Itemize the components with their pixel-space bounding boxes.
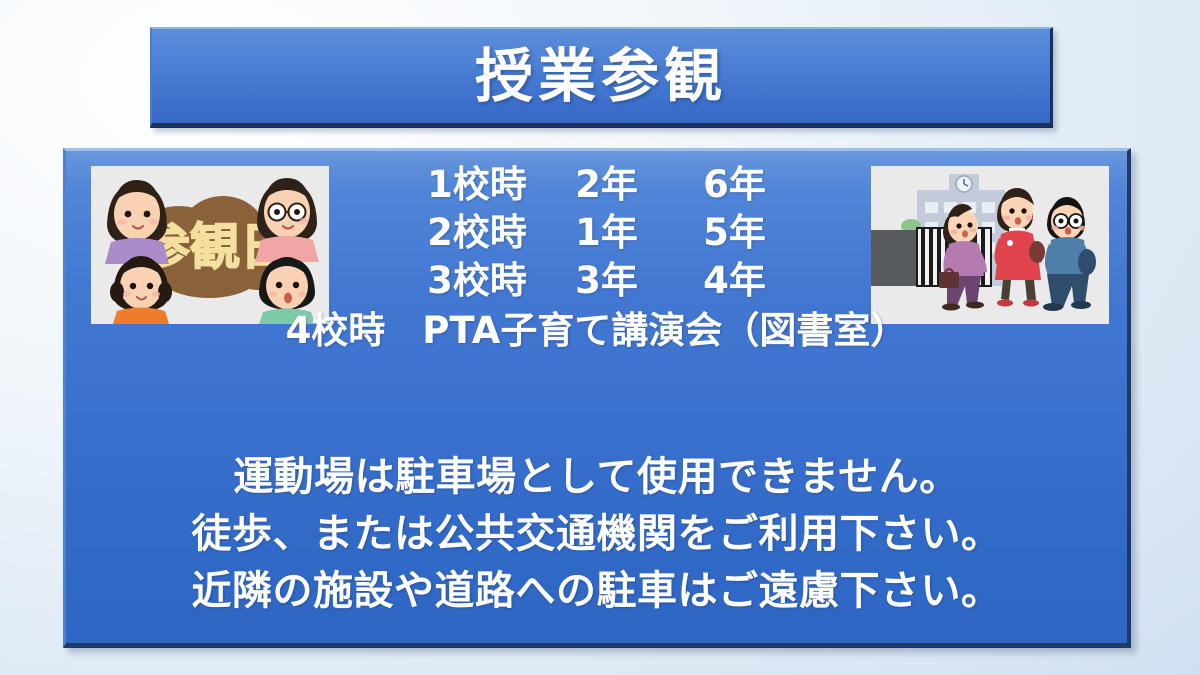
schedule-row: 1校時 2年 6年 xyxy=(427,161,766,209)
schedule-class-b: 6年 xyxy=(703,161,766,209)
schedule-row: 3校時 3年 4年 xyxy=(427,257,766,305)
schedule-class-b: 5年 xyxy=(703,209,766,257)
schedule-period: 2校時 xyxy=(427,209,575,257)
schedule-class-a: 3年 xyxy=(575,257,703,305)
schedule-block: 1校時 2年 6年 2校時 1年 5年 3校時 3年 4年 4校時 PTA子育て… xyxy=(66,161,1127,355)
schedule-class-b: 4年 xyxy=(703,257,766,305)
notice-line: 徒歩、または公共交通機関をご利用下さい。 xyxy=(192,506,1002,563)
page-title: 授業参観 xyxy=(475,47,727,105)
schedule-class-a: 2年 xyxy=(575,161,703,209)
schedule-row: 2校時 1年 5年 xyxy=(427,209,766,257)
notice-block: 運動場は駐車場として使用できません。 徒歩、または公共交通機関をご利用下さい。 … xyxy=(66,449,1127,619)
schedule-row-lecture: 4校時 PTA子育て講演会（図書室） xyxy=(286,307,908,355)
schedule-period: 3校時 xyxy=(427,257,575,305)
schedule-class-a: 1年 xyxy=(575,209,703,257)
main-content-panel: 参観日 xyxy=(63,148,1131,648)
schedule-period: 1校時 xyxy=(427,161,575,209)
notice-line: 運動場は駐車場として使用できません。 xyxy=(233,449,960,506)
notice-line: 近隣の施設や道路への駐車はご遠慮下さい。 xyxy=(192,563,1002,620)
slide-canvas: 授業参観 参観日 xyxy=(0,0,1200,675)
title-banner: 授業参観 xyxy=(150,27,1053,128)
